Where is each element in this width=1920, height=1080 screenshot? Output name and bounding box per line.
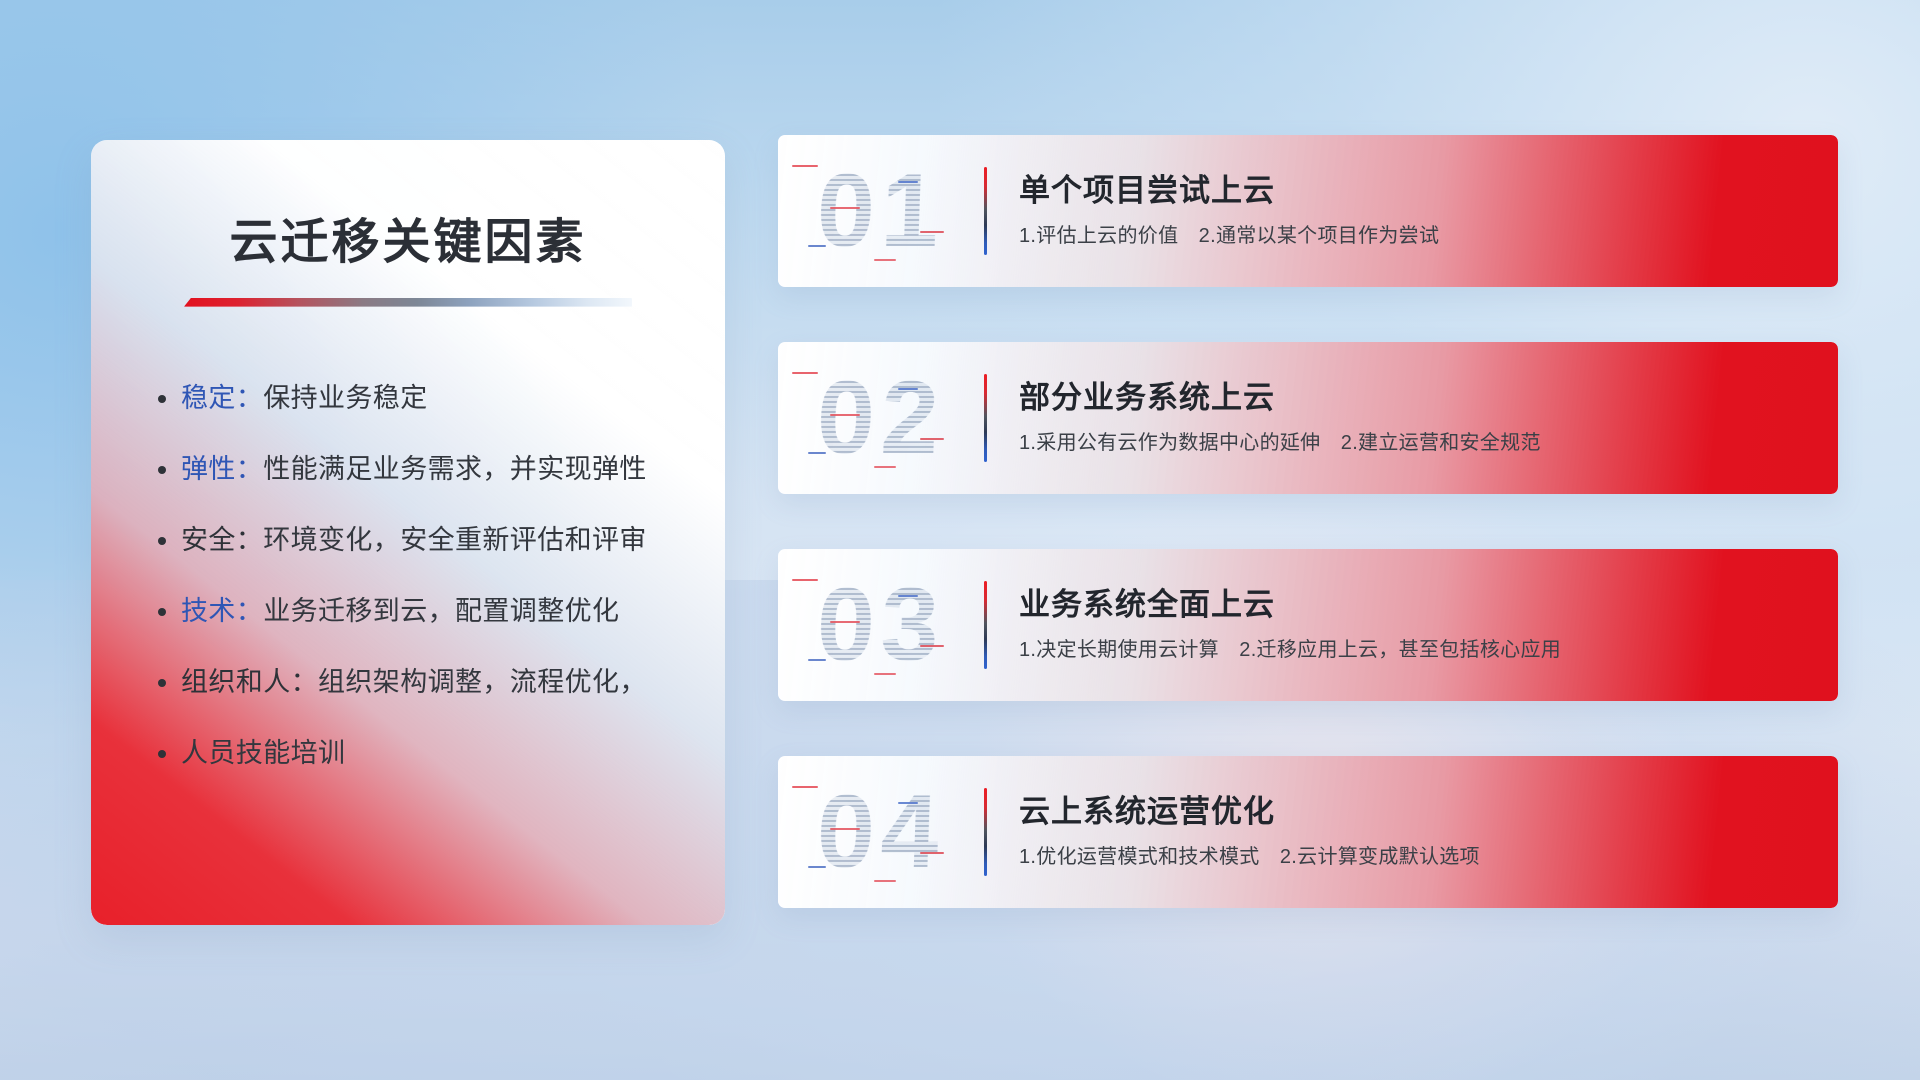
stage-number-fleck-3 [920,852,944,854]
stage-number-fleck-5 [874,880,896,882]
card-text-block: 业务系统全面上云1.决定长期使用云计算 2.迁移应用上云，甚至包括核心应用 [987,587,1838,663]
key-factor-item: 组织和人：组织架构调整，流程优化， [181,669,671,696]
key-factor-label: 稳定： [181,383,263,413]
key-factors-list: 稳定：保持业务稳定弹性：性能满足业务需求，并实现弹性安全：环境变化，安全重新评估… [145,385,671,767]
migration-stage-card[interactable]: 04云上系统运营优化1.优化运营模式和技术模式 2.云计算变成默认选项 [778,756,1838,908]
key-factor-item: 安全：环境变化，安全重新评估和评审 [181,527,671,554]
key-factors-panel: 云迁移关键因素 稳定：保持业务稳定弹性：性能满足业务需求，并实现弹性安全：环境变… [91,140,725,925]
key-factor-item: 人员技能培训 [181,740,671,767]
stage-number-fleck-0 [792,786,818,788]
stage-number-block: 01 [778,135,984,287]
key-factor-label: 弹性： [181,454,263,484]
stage-number-fleck-3 [920,438,944,440]
stage-number-fleck-0 [792,372,818,374]
stage-number-block: 03 [778,549,984,701]
title-underline-rule [184,298,632,307]
stage-number-fleck-2 [830,621,860,623]
migration-stage-card[interactable]: 03业务系统全面上云1.决定长期使用云计算 2.迁移应用上云，甚至包括核心应用 [778,549,1838,701]
stage-number: 04 [815,780,946,884]
stage-number-fleck-4 [808,245,826,247]
stage-number-fleck-0 [792,165,818,167]
card-description: 1.评估上云的价值 2.通常以某个项目作为尝试 [1019,224,1838,249]
stage-number: 03 [815,573,946,677]
stage-number-fleck-4 [808,866,826,868]
card-title: 单个项目尝试上云 [1019,173,1838,210]
stage-number: 01 [815,159,946,263]
stage-number-fleck-4 [808,659,826,661]
key-factor-label: 安全： [181,525,263,555]
card-text-block: 部分业务系统上云1.采用公有云作为数据中心的延伸 2.建立运营和安全规范 [987,380,1838,456]
stage-number: 02 [815,366,946,470]
key-factor-label: 组织和人： [181,667,318,697]
stage-number-fleck-5 [874,673,896,675]
migration-stage-card[interactable]: 02部分业务系统上云1.采用公有云作为数据中心的延伸 2.建立运营和安全规范 [778,342,1838,494]
stage-number-fleck-1 [898,595,918,597]
card-title: 部分业务系统上云 [1019,380,1838,417]
stage-number-fleck-5 [874,259,896,261]
key-factor-value: 组织架构调整，流程优化， [318,667,647,697]
stage-number-fleck-1 [898,181,918,183]
slide-stage: 云迁移关键因素 稳定：保持业务稳定弹性：性能满足业务需求，并实现弹性安全：环境变… [0,0,1920,1080]
key-factor-value: 保持业务稳定 [263,383,427,413]
stage-number-fleck-1 [898,388,918,390]
card-text-block: 单个项目尝试上云1.评估上云的价值 2.通常以某个项目作为尝试 [987,173,1838,249]
key-factor-item: 弹性：性能满足业务需求，并实现弹性 [181,456,671,483]
stage-number-block: 02 [778,342,984,494]
stage-number-fleck-2 [830,207,860,209]
card-description: 1.决定长期使用云计算 2.迁移应用上云，甚至包括核心应用 [1019,638,1838,663]
card-title: 云上系统运营优化 [1019,794,1838,831]
key-factor-value: 环境变化，安全重新评估和评审 [263,525,647,555]
migration-stage-cards: 01单个项目尝试上云1.评估上云的价值 2.通常以某个项目作为尝试02部分业务系… [778,135,1838,908]
card-title: 业务系统全面上云 [1019,587,1838,624]
stage-number-fleck-2 [830,414,860,416]
stage-number-block: 04 [778,756,984,908]
stage-number-fleck-4 [808,452,826,454]
stage-number-fleck-3 [920,231,944,233]
card-text-block: 云上系统运营优化1.优化运营模式和技术模式 2.云计算变成默认选项 [987,794,1838,870]
card-description: 1.优化运营模式和技术模式 2.云计算变成默认选项 [1019,845,1838,870]
migration-stage-card[interactable]: 01单个项目尝试上云1.评估上云的价值 2.通常以某个项目作为尝试 [778,135,1838,287]
page-title: 云迁移关键因素 [145,214,671,272]
key-factor-item: 技术：业务迁移到云，配置调整优化 [181,598,671,625]
key-factor-label: 技术： [181,596,263,626]
key-factor-value: 人员技能培训 [181,738,345,768]
stage-number-fleck-3 [920,645,944,647]
stage-number-fleck-5 [874,466,896,468]
stage-number-fleck-1 [898,802,918,804]
key-factor-item: 稳定：保持业务稳定 [181,385,671,412]
stage-number-fleck-0 [792,579,818,581]
key-factor-value: 性能满足业务需求，并实现弹性 [263,454,647,484]
stage-number-fleck-2 [830,828,860,830]
card-description: 1.采用公有云作为数据中心的延伸 2.建立运营和安全规范 [1019,431,1838,456]
key-factor-value: 业务迁移到云，配置调整优化 [263,596,619,626]
